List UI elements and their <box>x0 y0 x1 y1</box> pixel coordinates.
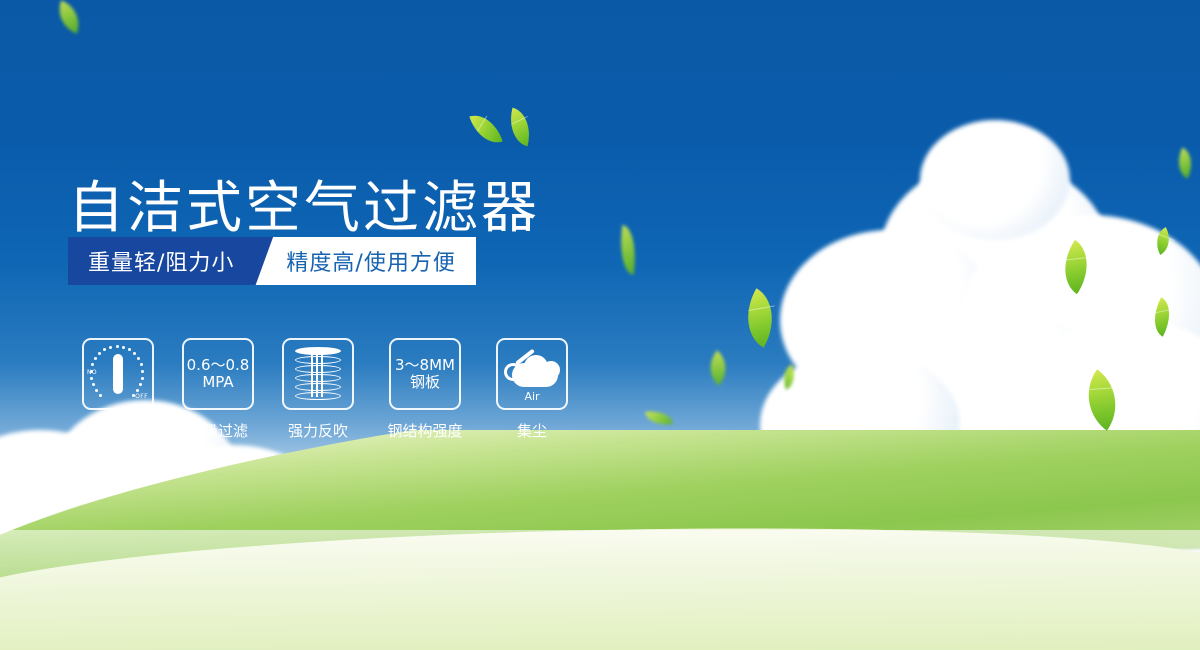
leaf-icon <box>1050 240 1101 294</box>
pressure-icon: 0.6〜0.8 MPA <box>187 357 250 392</box>
leaf-icon <box>1150 227 1176 255</box>
subtitle-right-segment: 精度高/使用方便 <box>278 237 475 285</box>
gauge-label-no: NO <box>87 369 97 376</box>
feature-list: NO OFF 控制仪 0.6〜0.8 MPA 二级过滤 <box>82 338 568 441</box>
subtitle-divider <box>252 237 278 285</box>
leaf-icon <box>1145 297 1179 336</box>
feature-icon-box: Air <box>496 338 568 410</box>
grass-field <box>0 430 1200 650</box>
feature-item-backblow: 强力反吹 <box>282 338 354 441</box>
leaf-icon <box>1171 147 1198 178</box>
leaf-icon <box>52 0 85 33</box>
leaf-icon <box>732 288 787 348</box>
leaf-icon <box>616 225 641 275</box>
feature-item-pressure: 0.6〜0.8 MPA 二级过滤 <box>182 338 254 441</box>
feature-label: 控制仪 <box>95 420 140 441</box>
feature-label: 二级过滤 <box>188 420 248 441</box>
gauge-label-off: OFF <box>135 393 148 400</box>
leaf-icon <box>700 350 735 385</box>
subtitle-bar: 重量轻/阻力小 精度高/使用方便 <box>68 237 476 285</box>
leaf-icon <box>645 408 673 427</box>
feature-item-controller: NO OFF 控制仪 <box>82 338 154 441</box>
air-label: Air <box>502 390 562 403</box>
product-hero-banner: 自洁式空气过滤器 重量轻/阻力小 精度高/使用方便 <box>0 0 1200 650</box>
feature-item-dust: Air 集尘 <box>496 338 568 441</box>
feature-icon-box: 0.6〜0.8 MPA <box>182 338 254 410</box>
feature-icon-box: 3〜8MM 钢板 <box>389 338 461 410</box>
feature-label: 强力反吹 <box>288 420 348 441</box>
gauge-icon: NO OFF <box>88 345 148 403</box>
leaf-icon <box>779 364 799 389</box>
leaf-icon <box>469 109 502 149</box>
coil-filter-icon <box>295 347 341 401</box>
feature-item-steel: 3〜8MM 钢板 钢结构强度 <box>382 338 468 441</box>
leaf-icon <box>504 108 536 147</box>
gauge-toggle <box>113 354 123 394</box>
feature-icon-box: NO OFF <box>82 338 154 410</box>
feature-label: 钢结构强度 <box>387 420 462 441</box>
leaf-icon <box>1071 369 1132 430</box>
feature-label: 集尘 <box>517 420 547 441</box>
feature-icon-box <box>282 338 354 410</box>
steel-plate-icon: 3〜8MM 钢板 <box>395 357 455 392</box>
subtitle-left-segment: 重量轻/阻力小 <box>68 237 252 285</box>
page-title: 自洁式空气过滤器 <box>68 180 540 239</box>
cloud-air-icon: Air <box>502 347 562 401</box>
